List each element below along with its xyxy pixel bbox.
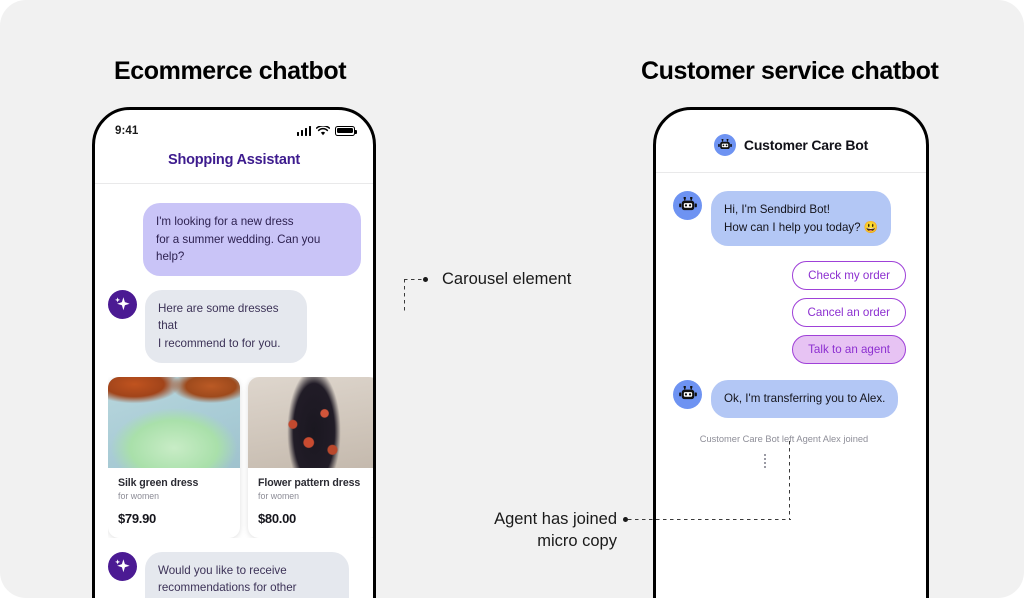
quick-reply-cancel-an-order[interactable]: Cancel an order: [792, 298, 907, 327]
product-meta: Silk green dress for women $79.90: [108, 468, 240, 538]
status-clock: 9:41: [115, 125, 138, 137]
annotation-dot-carousel: [423, 277, 428, 282]
message-row-bot-greeting: Hi, I'm Sendbird Bot! How can I help you…: [656, 191, 926, 246]
message-row-user: I'm looking for a new dress for a summer…: [95, 184, 373, 276]
product-card[interactable]: Silk green dress for women $79.90: [108, 377, 240, 538]
annotation-leader-vertical-carousel: [404, 279, 405, 312]
product-name: Flower pattern dress: [258, 477, 370, 489]
product-name: Silk green dress: [118, 477, 230, 489]
annotation-leader-horizontal-agent: [628, 519, 791, 520]
message-row-bot-2: Would you like to receive recommendation…: [95, 552, 373, 598]
product-subtitle: for women: [118, 491, 230, 501]
system-microcopy: Customer Care Bot left Agent Alex joined: [656, 432, 926, 447]
typing-indicator-dots: [764, 454, 766, 468]
robot-icon: [673, 380, 702, 409]
message-bubble-bot-1: Here are some dresses that I recommend t…: [145, 290, 307, 363]
message-bubble-user: I'm looking for a new dress for a summer…: [143, 203, 361, 276]
battery-icon: [335, 126, 355, 136]
product-image: [248, 377, 373, 468]
page-title-customer-service: Customer service chatbot: [641, 57, 938, 86]
annotation-label-agent: Agent has joined micro copy: [482, 508, 617, 553]
message-row-bot-transfer: Ok, I'm transferring you to Alex.: [656, 380, 926, 418]
product-price: $79.90: [118, 511, 230, 526]
wifi-icon: [316, 126, 330, 136]
phone-mockup-customer-service: Customer Care Bot: [653, 107, 929, 598]
chat-header-title: Customer Care Bot: [744, 137, 868, 153]
message-row-bot-1: Here are some dresses that I recommend t…: [95, 290, 373, 363]
message-bubble-bot-2: Would you like to receive recommendation…: [145, 552, 349, 598]
phone-mockup-ecommerce: 9:41 Shopping Assistant I'm looking for …: [92, 107, 376, 598]
product-subtitle: for women: [258, 491, 370, 501]
quick-reply-group: Check my order Cancel an order Talk to a…: [656, 261, 906, 364]
quick-reply-talk-to-an-agent[interactable]: Talk to an agent: [792, 335, 906, 364]
page-title-ecommerce: Ecommerce chatbot: [114, 57, 346, 86]
sparkle-icon: [108, 290, 137, 319]
sparkle-icon: [108, 552, 137, 581]
message-bubble-greeting: Hi, I'm Sendbird Bot! How can I help you…: [711, 191, 891, 246]
illustration-canvas: Ecommerce chatbot Customer service chatb…: [0, 0, 1024, 598]
annotation-leader-horizontal-carousel: [404, 279, 424, 280]
product-image: [108, 377, 240, 468]
product-carousel[interactable]: Silk green dress for women $79.90 Flower…: [108, 377, 373, 538]
product-card[interactable]: Flower pattern dress for women $80.00: [248, 377, 373, 538]
annotation-label-carousel: Carousel element: [442, 270, 571, 289]
quick-reply-check-my-order[interactable]: Check my order: [792, 261, 906, 290]
status-icon-group: [297, 126, 356, 136]
status-bar: 9:41: [95, 110, 373, 140]
product-price: $80.00: [258, 511, 370, 526]
message-bubble-transfer: Ok, I'm transferring you to Alex.: [711, 380, 898, 418]
chat-header: Customer Care Bot: [656, 110, 926, 173]
annotation-dot-agent: [623, 517, 628, 522]
product-meta: Flower pattern dress for women $80.00: [248, 468, 373, 538]
chat-thread-customer-service: Hi, I'm Sendbird Bot! How can I help you…: [656, 191, 926, 468]
annotation-leader-vertical-agent: [789, 441, 790, 519]
cellular-signal-icon: [297, 126, 312, 136]
chat-thread-ecommerce: I'm looking for a new dress for a summer…: [95, 184, 373, 598]
app-header-title: Shopping Assistant: [95, 140, 373, 184]
robot-icon: [673, 191, 702, 220]
robot-icon: [714, 134, 736, 156]
